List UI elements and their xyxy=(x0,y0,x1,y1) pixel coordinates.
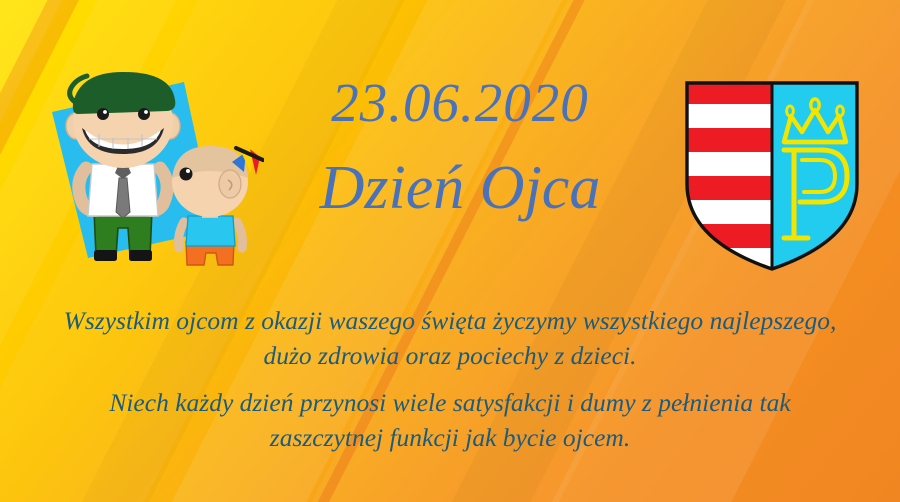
event-date: 23.06.2020 xyxy=(250,74,670,132)
greeting-paragraph-2: Niech każdy dzień przynosi wiele satysfa… xyxy=(60,385,840,455)
father-eye-right xyxy=(138,108,150,120)
greeting-line: Niech każdy dzień przynosi wiele satysfa… xyxy=(109,388,753,417)
child-arm-right xyxy=(237,222,242,248)
child-eye xyxy=(180,168,193,181)
shield-stripe-red xyxy=(684,128,772,152)
poster-canvas: 23.06.2020 Dzień Ojca xyxy=(0,0,900,502)
shield-stripe-red xyxy=(684,176,772,200)
father-eye-highlight-right xyxy=(144,110,148,114)
child-shirt xyxy=(186,216,235,246)
greeting-line: Wszystkim ojcom z okazji waszego święta … xyxy=(64,306,704,335)
shield-fields xyxy=(684,80,860,272)
greeting-paragraph-1: Wszystkim ojcom z okazji waszego święta … xyxy=(60,303,840,373)
father-eye-highlight-left xyxy=(103,110,107,114)
child-arm-left xyxy=(179,222,184,248)
greeting-message: Wszystkim ojcom z okazji waszego święta … xyxy=(60,303,840,455)
coat-of-arms xyxy=(684,80,860,272)
child-ear xyxy=(219,170,241,198)
child-eye-highlight xyxy=(186,169,190,173)
father-tie xyxy=(116,178,130,218)
father-shoe-right xyxy=(129,250,152,261)
headline-block: 23.06.2020 Dzień Ojca xyxy=(250,74,670,221)
father-shoe-left xyxy=(94,250,117,261)
father-eye-left xyxy=(97,108,109,120)
father-beret xyxy=(73,72,175,114)
page-title: Dzień Ojca xyxy=(250,156,670,221)
father-and-child-illustration xyxy=(34,60,264,290)
shield-stripe-red xyxy=(684,224,772,248)
